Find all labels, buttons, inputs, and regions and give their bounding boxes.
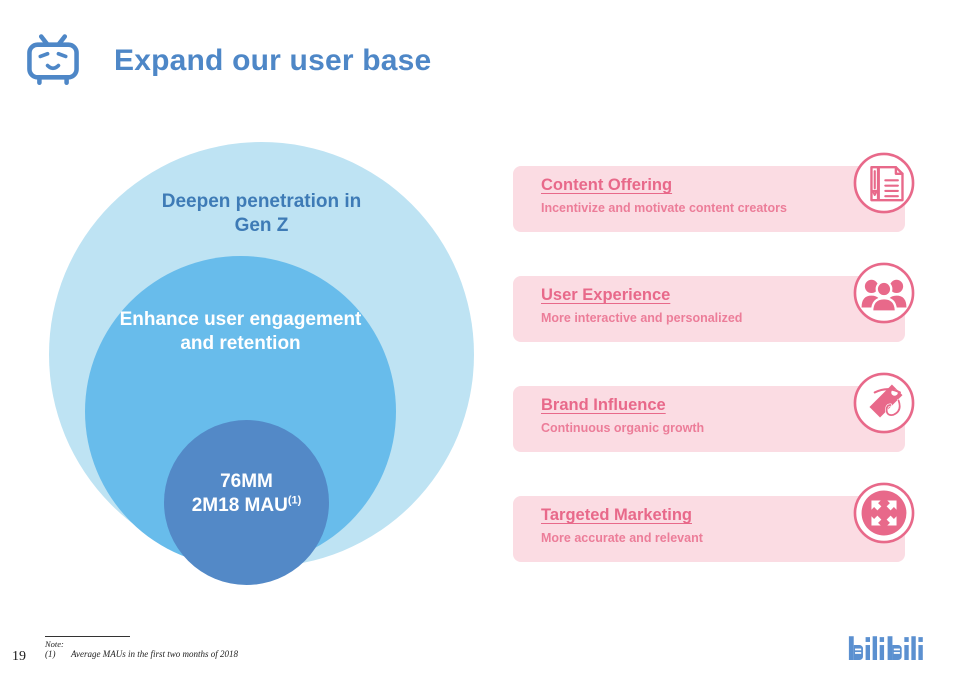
- footnote-text: Average MAUs in the first two months of …: [71, 649, 238, 661]
- bilibili-wordmark-logo: [848, 632, 936, 666]
- card-text: User Experience More interactive and per…: [541, 286, 742, 325]
- footnote-marker: (1): [45, 649, 71, 661]
- card-subtitle: Continuous organic growth: [541, 421, 704, 435]
- footnote-rule: [45, 636, 130, 637]
- card-title[interactable]: Content Offering: [541, 176, 787, 195]
- circle-middle-label-line2: and retention: [85, 332, 396, 356]
- card-title[interactable]: Targeted Marketing: [541, 506, 703, 525]
- slide-header: Expand our user base: [24, 32, 431, 90]
- circle-inner-label-line2: 2M18 MAU(1): [164, 494, 329, 518]
- card-subtitle: Incentivize and motivate content creator…: [541, 201, 787, 215]
- mau-value: 2M18 MAU: [192, 495, 288, 516]
- circle-inner-label-line1: 76MM: [164, 470, 329, 494]
- card-text: Brand Influence Continuous organic growt…: [541, 396, 704, 435]
- card-content-offering[interactable]: Content Offering Incentivize and motivat…: [513, 166, 905, 232]
- nested-circles-diagram: Deepen penetration in Gen Z Enhance user…: [49, 142, 474, 567]
- circle-middle-label-line1: Enhance user engagement: [85, 308, 396, 332]
- card-user-experience[interactable]: User Experience More interactive and per…: [513, 276, 905, 342]
- feature-card-list: Content Offering Incentivize and motivat…: [513, 166, 905, 562]
- card-text: Content Offering Incentivize and motivat…: [541, 176, 787, 215]
- footnote-marker: (1): [288, 494, 301, 506]
- slide-footer: 19 Note: (1) Average MAUs in the first t…: [0, 636, 960, 679]
- card-text: Targeted Marketing More accurate and rel…: [541, 506, 703, 545]
- card-subtitle: More interactive and personalized: [541, 311, 742, 325]
- footnote-row: (1) Average MAUs in the first two months…: [45, 649, 238, 661]
- card-targeted-marketing[interactable]: Targeted Marketing More accurate and rel…: [513, 496, 905, 562]
- page-title: Expand our user base: [114, 44, 431, 78]
- card-title[interactable]: User Experience: [541, 286, 742, 305]
- card-subtitle: More accurate and relevant: [541, 531, 703, 545]
- card-brand-influence[interactable]: Brand Influence Continuous organic growt…: [513, 386, 905, 452]
- slide-root: Expand our user base Deepen penetration …: [0, 0, 960, 679]
- circle-outer-label-line1: Deepen penetration in: [49, 190, 474, 214]
- footnote-block: Note: (1) Average MAUs in the first two …: [45, 636, 238, 661]
- circle-middle-label: Enhance user engagement and retention: [85, 308, 396, 356]
- page-number: 19: [12, 649, 26, 665]
- people-group-icon: [851, 260, 917, 326]
- card-title[interactable]: Brand Influence: [541, 396, 704, 415]
- price-tag-icon: [851, 370, 917, 436]
- expand-arrows-icon: [851, 480, 917, 546]
- document-pencil-icon: [851, 150, 917, 216]
- circle-outer-label: Deepen penetration in Gen Z: [49, 190, 474, 238]
- footnote-label: Note:: [45, 639, 238, 649]
- circle-inner-mau: 76MM 2M18 MAU(1): [164, 420, 329, 585]
- bilibili-tv-icon: [24, 32, 82, 90]
- circle-inner-label: 76MM 2M18 MAU(1): [164, 470, 329, 518]
- circle-outer-label-line2: Gen Z: [49, 214, 474, 238]
